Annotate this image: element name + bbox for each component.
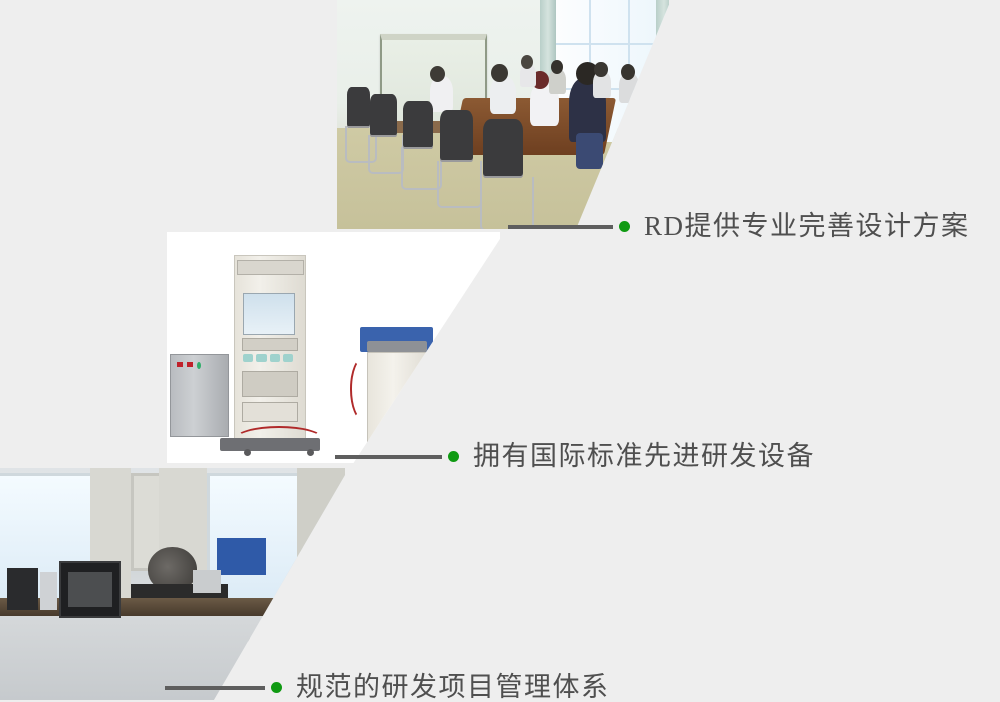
- feature-image-rd-management: [0, 468, 345, 700]
- chair: [347, 87, 370, 126]
- chair: [370, 94, 397, 135]
- rack-keypad: [242, 371, 299, 397]
- rack-button-row: [243, 353, 293, 364]
- person: [646, 80, 666, 112]
- feature-caption-rd-management: 规范的研发项目管理体系: [165, 674, 610, 701]
- rack-lower-panel: [242, 402, 299, 422]
- connector-line-icon: [165, 686, 265, 690]
- connector-line-icon: [508, 225, 613, 229]
- lab-equipment-photo: [167, 232, 500, 463]
- instrument-rack: [234, 255, 306, 439]
- feature-block-rd-equipment: [167, 232, 500, 463]
- feature-caption-rd-equipment: 拥有国际标准先进研发设备: [335, 443, 815, 470]
- measurement-stand: [217, 538, 265, 575]
- feature-image-rd-equipment: [167, 232, 500, 463]
- feature-caption-text: 规范的研发项目管理体系: [296, 674, 610, 701]
- equipment-box: [40, 572, 57, 609]
- chair: [483, 119, 523, 176]
- rack-control-panel: [242, 338, 299, 351]
- controller: [193, 570, 221, 593]
- green-dot-icon: [271, 682, 282, 693]
- chair: [440, 110, 473, 160]
- fixture-plate: [367, 341, 427, 353]
- chair: [403, 101, 433, 147]
- person-head: [594, 62, 607, 77]
- feature-caption-text: 拥有国际标准先进研发设备: [473, 443, 815, 470]
- cabinet: [0, 616, 106, 700]
- feature-block-rd-management: [0, 468, 345, 700]
- feature-image-rd-design: [337, 0, 669, 229]
- feature-caption-text: RD提供专业完善设计方案: [644, 213, 970, 240]
- green-dot-icon: [448, 451, 459, 462]
- person-head: [647, 71, 661, 87]
- meeting-room-photo: [337, 0, 669, 229]
- test-chamber: [59, 561, 122, 618]
- power-supply-unit: [170, 354, 229, 437]
- person-head: [521, 55, 533, 69]
- test-bench-photo: [0, 468, 345, 700]
- rack-header-panel: [237, 260, 303, 275]
- feature-showcase: RD提供专业完善设计方案 拥有国际标准先进研发设备 规范的研发项目管理体系: [0, 0, 1000, 700]
- green-dot-icon: [619, 221, 630, 232]
- person-legs: [576, 133, 603, 170]
- curtain-right: [656, 0, 669, 142]
- feature-block-rd-design: [337, 0, 669, 229]
- rack-display: [243, 293, 295, 335]
- person-head: [621, 64, 635, 80]
- feature-caption-rd-design: RD提供专业完善设计方案: [508, 213, 970, 240]
- monitor: [7, 568, 38, 610]
- wall-right: [297, 468, 345, 603]
- connector-line-icon: [335, 455, 442, 459]
- person: [490, 76, 517, 115]
